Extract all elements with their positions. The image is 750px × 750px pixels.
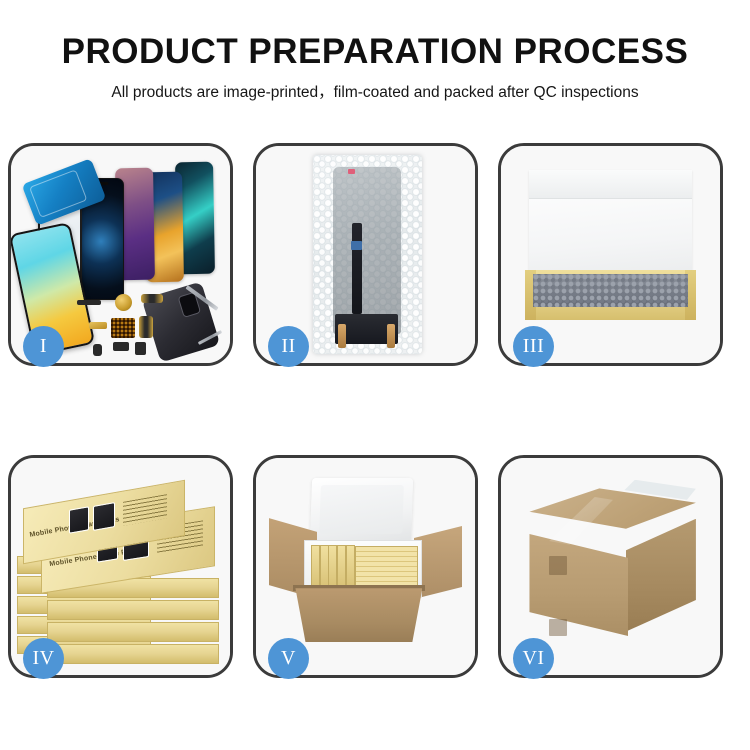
step-badge-iii: III: [513, 326, 554, 367]
lcd-gold-tab-right: [387, 324, 395, 348]
button-part: [93, 344, 102, 356]
page-subtitle: All products are image-printed，film-coat…: [0, 80, 750, 102]
packed-box-1: [311, 545, 320, 588]
process-step-panel-iii[interactable]: III: [498, 143, 723, 366]
gold-contact-part: [89, 322, 107, 329]
retail-box-right-4: [47, 622, 219, 642]
step-badge-vi: VI: [513, 638, 554, 679]
process-step-panel-iv[interactable]: Mobile Phone Spare Parts Mobile Phone Sp…: [8, 455, 233, 678]
carton-side-face: [626, 519, 696, 632]
step-badge-i: I: [23, 326, 64, 367]
flex-cable-part-a: [141, 294, 163, 303]
retail-box-right-3: [47, 600, 219, 620]
carton-front-wall: [295, 588, 422, 642]
process-step-grid: I II III: [8, 143, 743, 678]
step-badge-ii: II: [268, 326, 309, 367]
carton-hand-hole-lower: [549, 619, 567, 636]
pink-label-sticker: [348, 169, 355, 174]
process-step-panel-vi[interactable]: VI: [498, 455, 723, 678]
bar-connector-part: [77, 300, 101, 305]
process-step-panel-i[interactable]: I: [8, 143, 233, 366]
packed-box-3: [328, 545, 337, 588]
mesh-grille-part: [111, 318, 135, 338]
carton-hand-hole-upper: [549, 556, 567, 576]
lcd-gold-tab-left: [338, 324, 346, 348]
retail-box-window-1a: [69, 506, 89, 534]
carton-front-face: [529, 527, 628, 636]
retail-box-right-5: [47, 644, 219, 664]
lcd-screen-assembly: [333, 167, 401, 335]
packed-box-5: [346, 545, 355, 588]
flex-cable-part-b: [139, 316, 153, 338]
step-badge-iv: IV: [23, 638, 64, 679]
camera-module-part: [113, 342, 129, 351]
speaker-coil-part: [115, 294, 132, 311]
packed-box-4: [337, 545, 346, 588]
retail-box-window-1b: [93, 502, 115, 531]
white-lid-flap: [529, 170, 691, 199]
protective-foam-insert: [533, 274, 688, 307]
foam-lid-open: [310, 478, 413, 543]
lcd-driver-ic: [351, 241, 362, 251]
packed-box-stack-flat: [355, 546, 418, 587]
process-step-panel-ii[interactable]: II: [253, 143, 478, 366]
packed-box-2: [320, 545, 329, 588]
lcd-flex-cable: [352, 223, 362, 315]
page-header: PRODUCT PREPARATION PROCESS All products…: [0, 0, 750, 102]
bubble-wrap-bag: [313, 155, 423, 355]
step-badge-v: V: [268, 638, 309, 679]
process-step-panel-v[interactable]: V: [253, 455, 478, 678]
battery-part: [135, 342, 146, 355]
page-title: PRODUCT PREPARATION PROCESS: [0, 32, 750, 71]
